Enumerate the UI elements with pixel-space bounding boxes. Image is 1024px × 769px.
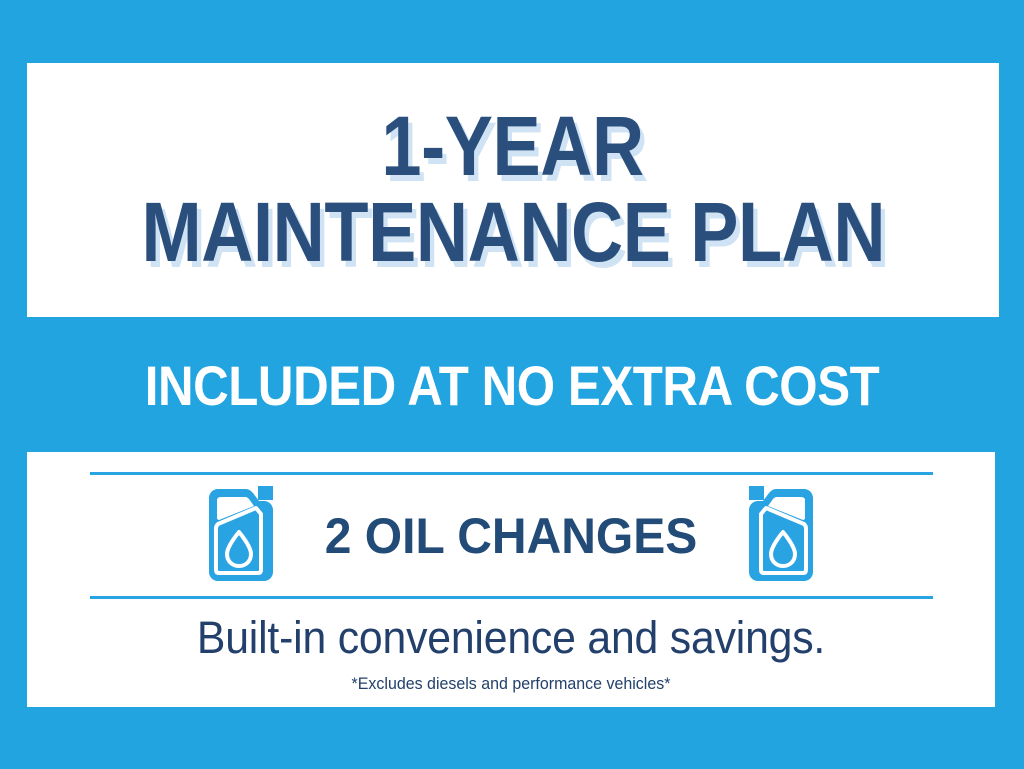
divider-bottom	[90, 596, 933, 599]
oil-jug-icon-left	[199, 484, 277, 589]
divider-top	[90, 472, 933, 475]
disclaimer: *Excludes diesels and performance vehicl…	[56, 674, 966, 694]
subheadline: INCLUDED AT NO EXTRA COST	[61, 340, 962, 430]
tagline: Built-in convenience and savings.	[51, 612, 971, 664]
details-card: 2 OIL CHANGES Built-in convenience and s…	[27, 452, 995, 707]
oil-jug-icon-right	[745, 484, 823, 589]
headline-line-1: 1-YEAR	[382, 107, 644, 187]
feature-row: 2 OIL CHANGES	[27, 476, 995, 596]
headline-card: 1-YEAR MAINTENANCE PLAN	[27, 63, 999, 317]
promo-poster: 1-YEAR MAINTENANCE PLAN INCLUDED AT NO E…	[0, 0, 1024, 769]
feature-label: 2 OIL CHANGES	[325, 507, 698, 565]
headline-line-2: MAINTENANCE PLAN	[141, 193, 885, 273]
